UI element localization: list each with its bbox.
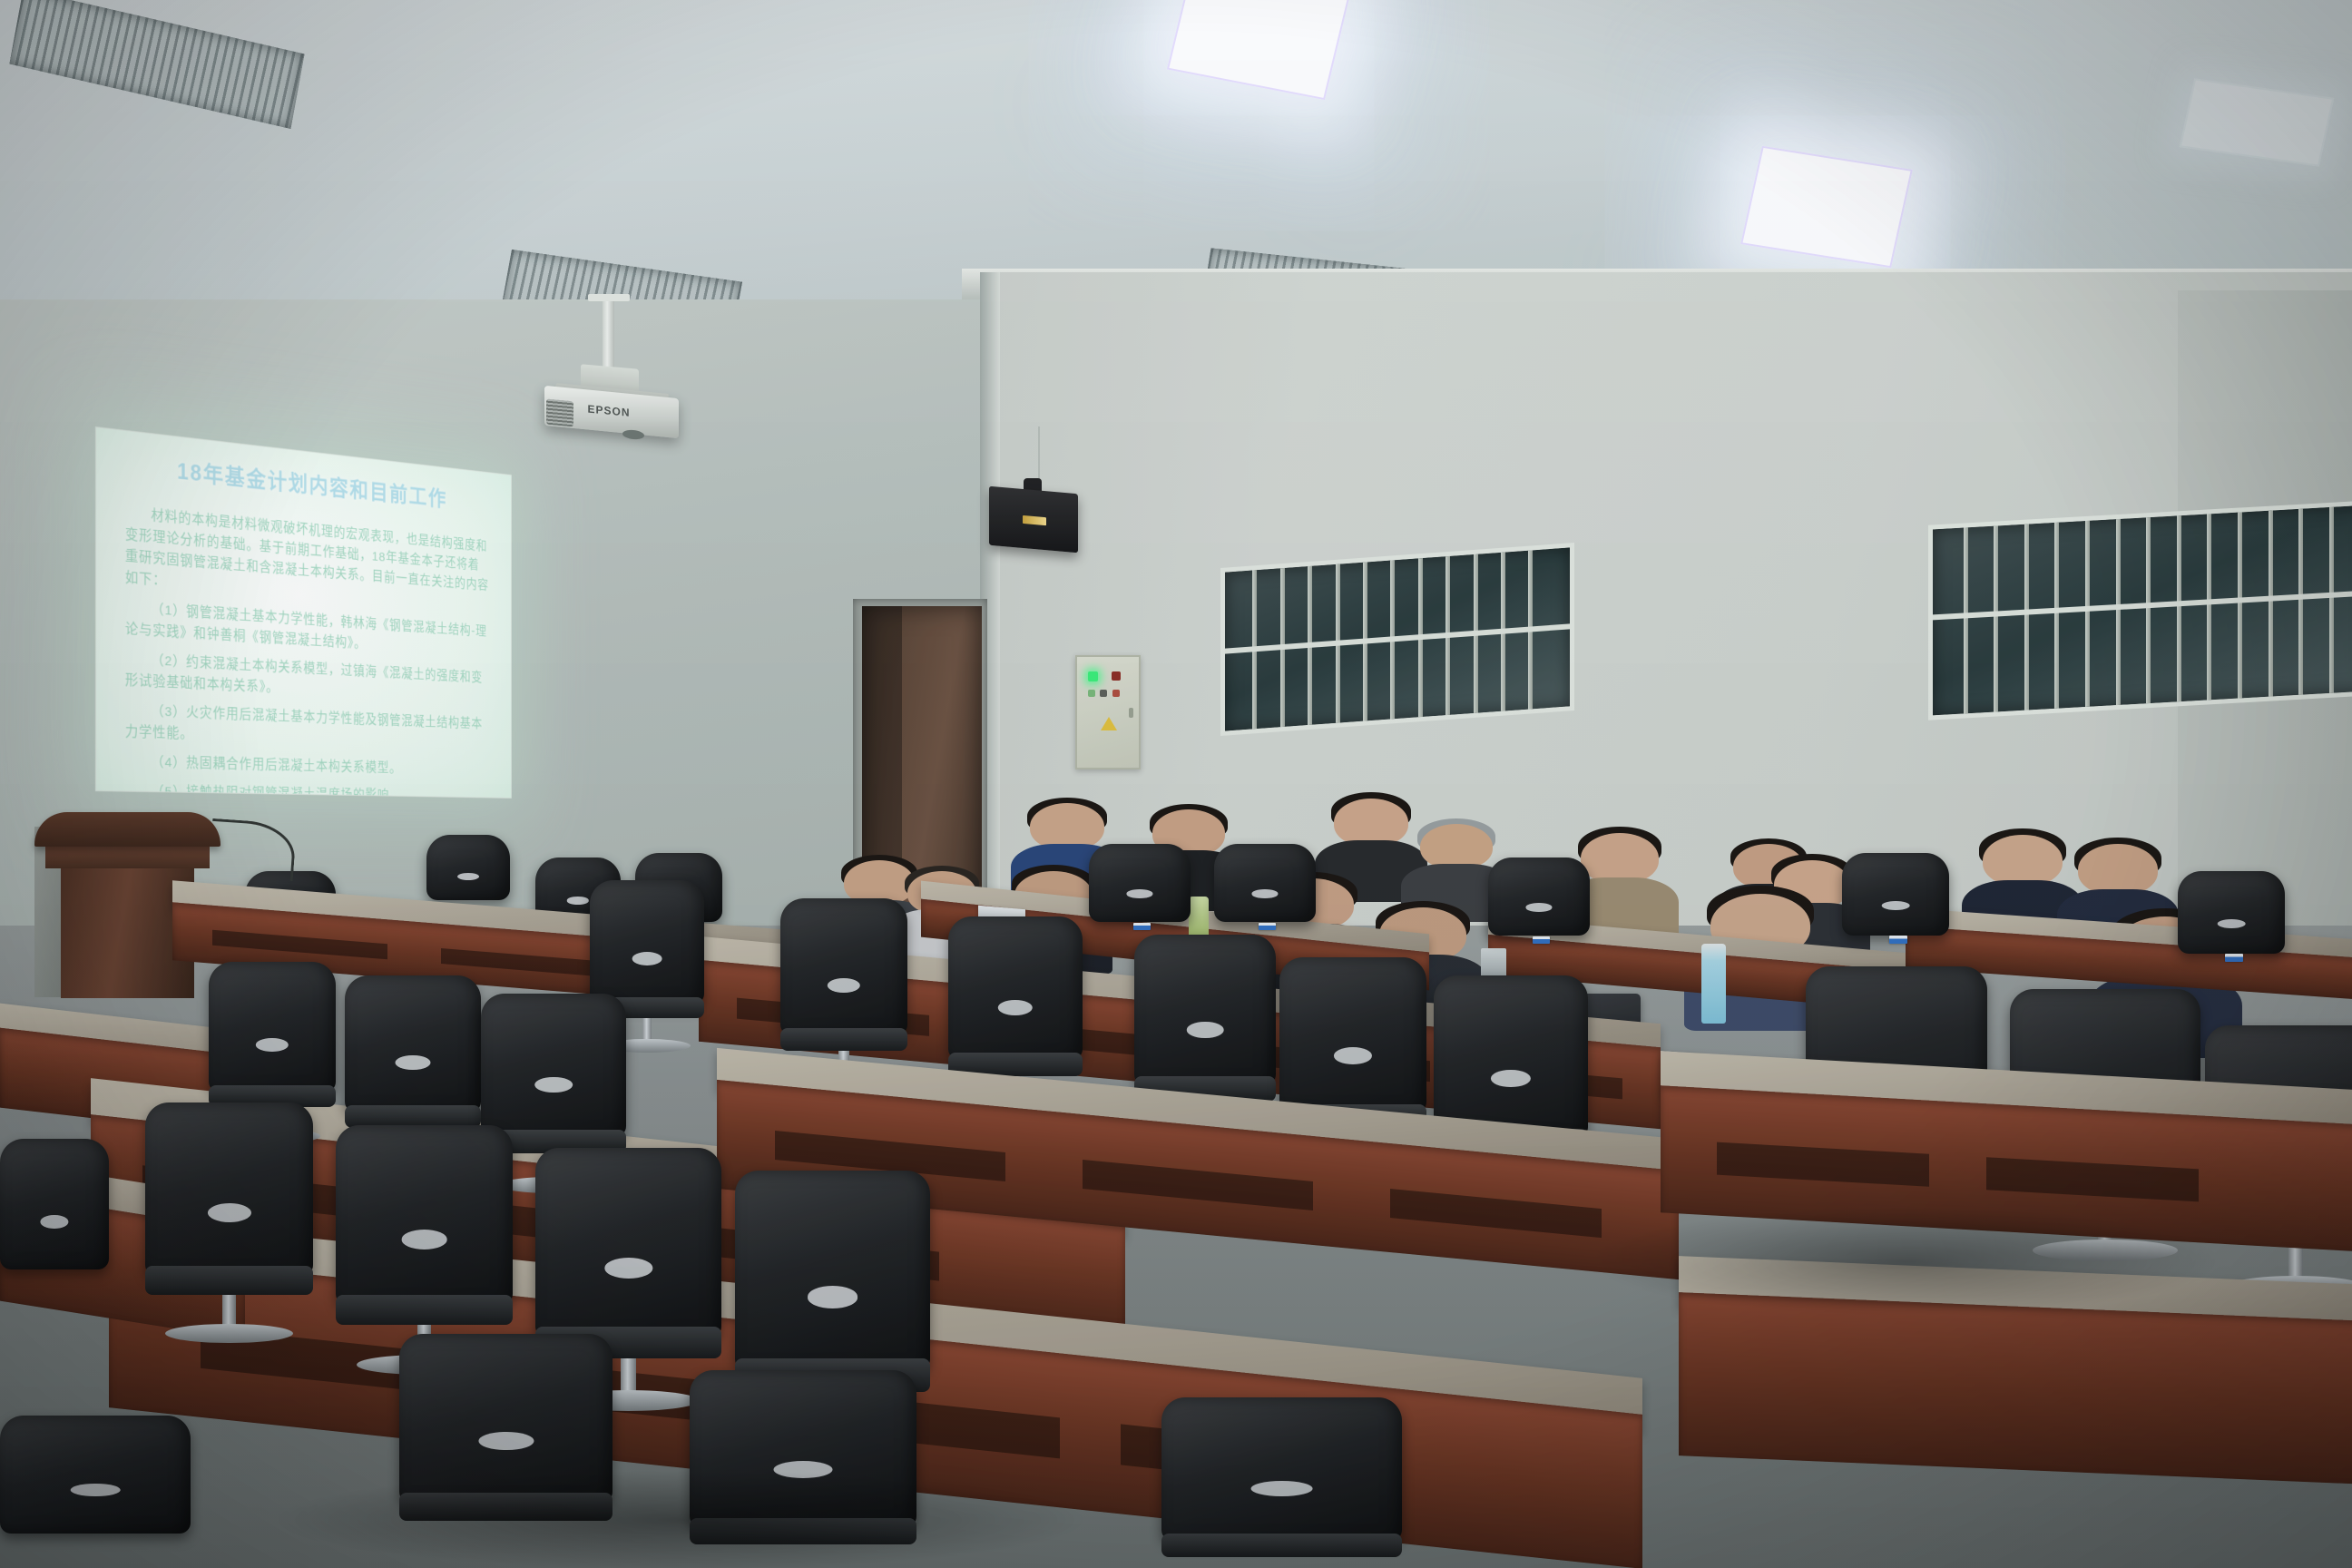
panel-lock-icon[interactable] [1129, 708, 1133, 718]
ceiling-light-panel [1167, 0, 1350, 100]
high-voltage-warning-icon [1101, 717, 1117, 730]
ceiling-light-panel [2180, 78, 2335, 166]
office-chair[interactable] [1842, 853, 1949, 967]
thermos-flask [1701, 944, 1726, 1024]
switch-icon[interactable] [1112, 690, 1120, 697]
projector-vent [546, 399, 573, 427]
alarm-led-icon [1112, 671, 1121, 681]
slide-paragraph: （4）热固耦合作用后混凝土本构关系模型。 [125, 751, 491, 781]
ceiling-vent [9, 0, 304, 129]
speaker-brand-badge [1023, 515, 1046, 525]
office-chair[interactable] [0, 1139, 109, 1320]
office-chair[interactable] [1488, 857, 1590, 966]
floor-shadow [272, 1470, 1089, 1568]
attendee [1581, 833, 1659, 938]
floor-shadow [1588, 1207, 2223, 1316]
window-barred [1220, 543, 1574, 736]
power-on-led-icon [1088, 671, 1098, 681]
projector-pole [603, 301, 614, 372]
speaker-cable [1038, 426, 1040, 481]
projector-ceiling-plate [588, 294, 630, 301]
slide-paragraph: 材料的本构是材料微观破坏机理的宏观表现，也是结构强度和变形理论分析的基础。基于前… [125, 503, 491, 616]
projection-screen: 18年基金计划内容和目前工作 材料的本构是材料微观破坏机理的宏观表现，也是结构强… [95, 426, 512, 799]
switch-icon[interactable] [1100, 690, 1107, 697]
office-chair[interactable] [0, 1416, 191, 1568]
ceiling-light-panel [1740, 146, 1913, 269]
switch-icon[interactable] [1088, 690, 1095, 697]
electrical-control-panel[interactable] [1075, 655, 1141, 769]
conference-table-front [1679, 1292, 2352, 1485]
office-chair[interactable] [145, 1102, 313, 1343]
office-chair[interactable] [2178, 871, 2285, 985]
projector-brand-label: EPSON [588, 403, 631, 420]
presentation-slide: 18年基金计划内容和目前工作 材料的本构是材料微观破坏机理的宏观表现，也是结构强… [96, 427, 511, 798]
window-barred [1928, 500, 2352, 720]
wall-speaker-icon [989, 486, 1078, 554]
slide-paragraph: （3）火灾作用后混凝土基本力学性能及钢管混凝土结构基本力学性能。 [125, 700, 491, 754]
office-chair[interactable] [1161, 1397, 1402, 1568]
conference-room-scene: 18年基金计划内容和目前工作 材料的本构是材料微观破坏机理的宏观表现，也是结构强… [0, 0, 2352, 1568]
